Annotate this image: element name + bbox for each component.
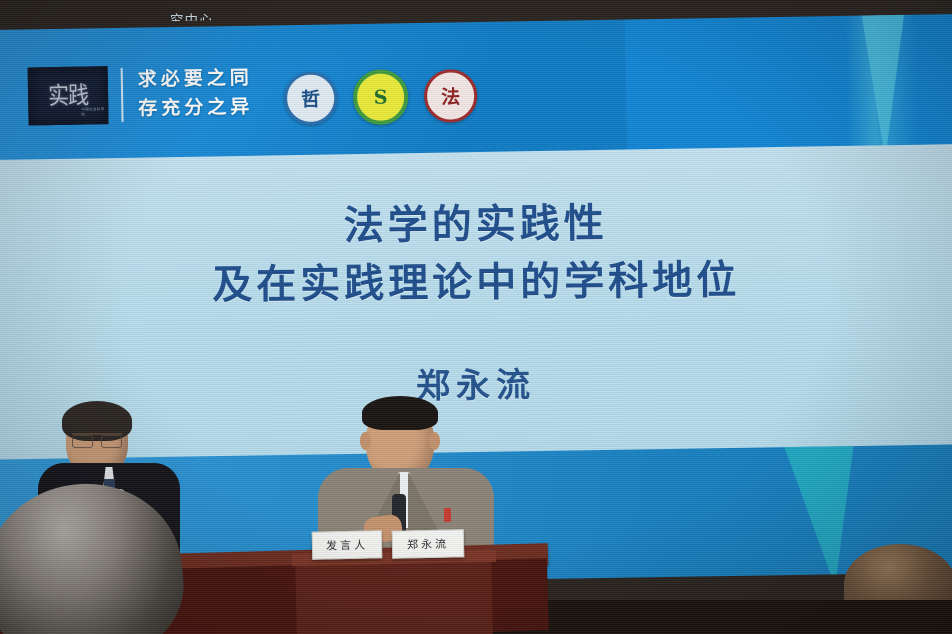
seal-logo-subtext: 中国社会科学院 [81,107,107,117]
screenshot-root: 法学的实践性 及在实践理论中的学科地位 郑永流 究中心 践哲学与社会发展研 究中… [0,0,952,634]
philosophy-institute-logo: 哲 [284,71,338,125]
nameplate-name: 郑永流 [392,529,465,559]
speaker-ear-right [429,432,440,450]
slide-title: 法学的实践性 及在实践理论中的学科地位 [0,191,952,316]
event-seal-logo: 实践 中国社会科学院 [28,66,109,125]
speaker-ear-left [360,432,371,450]
slogan-line1: 求必要之同 [138,64,253,95]
sponsor-logos: 哲 S 法 [284,68,478,126]
banner-divider [121,68,124,122]
speaker-hair [362,396,438,430]
banner-slogan: 求必要之同 存充分之异 [138,64,254,124]
podium [295,554,493,634]
slide-title-line1: 法学的实践性 [0,191,952,258]
slogan-line2: 存充分之异 [138,93,253,124]
slide-title-line2: 及在实践理论中的学科地位 [0,249,952,316]
society-logo: S [353,69,409,125]
law-institute-logo: 法 [424,69,478,123]
speaker-badge [444,508,451,522]
nameplate-role: 发言人 [312,530,383,559]
glasses-icon [72,433,122,446]
seal-logo-text: 实践 [48,83,88,108]
